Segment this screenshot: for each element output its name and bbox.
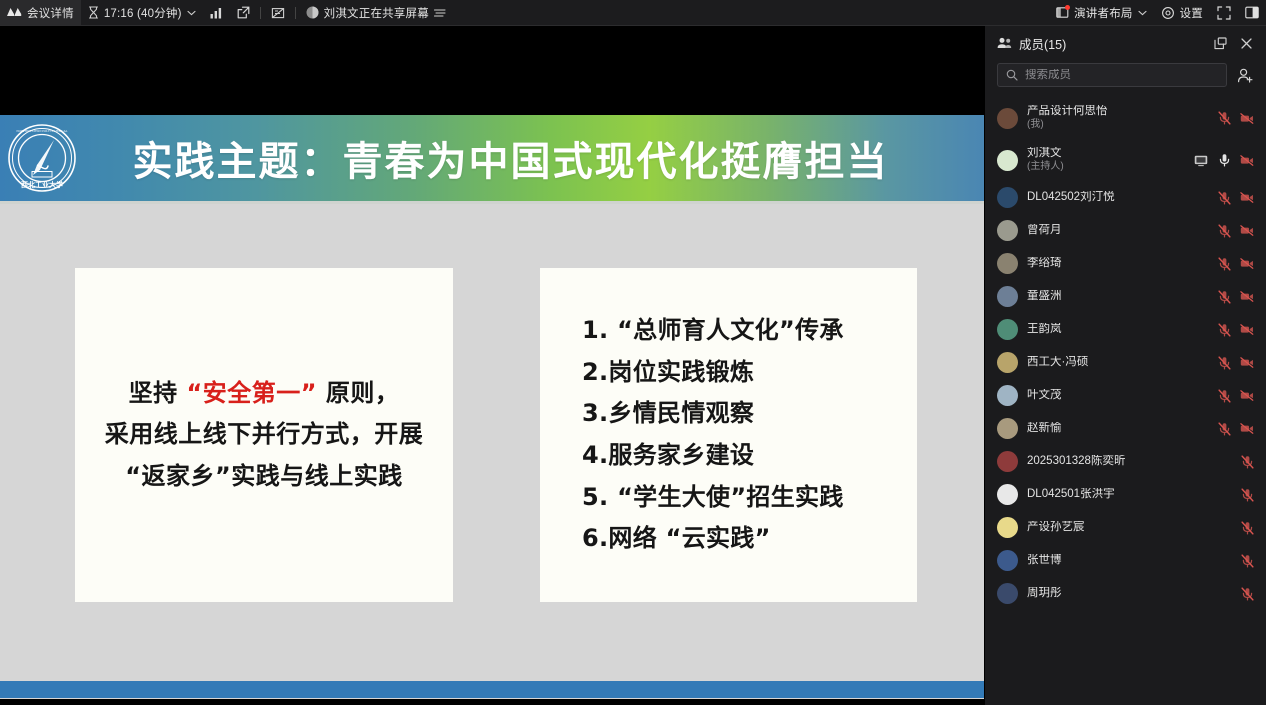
- settings-label: 设置: [1180, 5, 1203, 21]
- video-muted-icon[interactable]: [1240, 290, 1254, 304]
- toolbar-divider-2: [295, 7, 296, 19]
- speaker-layout-label: 演讲者布局: [1074, 5, 1133, 21]
- university-seal-icon: NORTHWESTERN POLYTECHNICAL 西北工业大学: [7, 123, 77, 193]
- participants-panel-header: 成员(15): [985, 29, 1266, 57]
- fullscreen-icon: [1217, 6, 1231, 20]
- meeting-details-label: 会议详情: [27, 5, 74, 21]
- avatar: [997, 583, 1018, 604]
- participant-row[interactable]: 西工大·冯硕: [985, 346, 1266, 379]
- svg-text:NORTHWESTERN POLYTECHNICAL: NORTHWESTERN POLYTECHNICAL: [16, 129, 67, 133]
- participant-name-wrap: 张世博: [1027, 554, 1231, 567]
- mic-muted-icon[interactable]: [1217, 224, 1231, 238]
- participant-actions: [1240, 521, 1254, 535]
- participant-name: 2025301328陈奕昕: [1027, 455, 1231, 468]
- participant-name: 产品设计何思怡: [1027, 105, 1208, 118]
- layout-icon: [1056, 6, 1069, 19]
- mic-muted-icon[interactable]: [1217, 111, 1231, 125]
- avatar: [997, 187, 1018, 208]
- participant-row[interactable]: 2025301328陈奕昕: [985, 445, 1266, 478]
- search-icon: [1006, 69, 1018, 81]
- participant-actions: [1217, 422, 1254, 436]
- meeting-timer[interactable]: 17:16 (40分钟): [81, 0, 203, 25]
- mic-muted-icon[interactable]: [1240, 488, 1254, 502]
- more-lines-icon: [434, 8, 446, 18]
- participant-name-wrap: 刘淇文(主持人): [1027, 147, 1185, 172]
- mic-muted-icon[interactable]: [1217, 422, 1231, 436]
- participant-actions: [1217, 290, 1254, 304]
- mic-muted-icon[interactable]: [1217, 323, 1231, 337]
- participant-row[interactable]: 叶文茂: [985, 379, 1266, 412]
- chevron-down-icon: [187, 10, 196, 16]
- participant-name-wrap: 产品设计何思怡(我): [1027, 105, 1208, 130]
- meeting-timer-label: 17:16 (40分钟): [104, 5, 182, 21]
- participants-panel: 成员(15): [984, 26, 1266, 705]
- network-stats-button[interactable]: [203, 0, 230, 25]
- left-card-line-2: 采用线上线下并行方式，开展: [105, 414, 424, 455]
- avatar: [997, 352, 1018, 373]
- left-line1-seg3: 原则，: [317, 379, 399, 407]
- right-card-item: 2.岗位实践锻炼: [582, 352, 754, 394]
- participant-actions: [1240, 587, 1254, 601]
- video-muted-icon[interactable]: [1240, 323, 1254, 337]
- sidebar-panel-icon: [1245, 6, 1259, 19]
- settings-button[interactable]: 设置: [1154, 0, 1210, 25]
- avatar: [997, 150, 1018, 171]
- participant-row[interactable]: 王韵岚: [985, 313, 1266, 346]
- participants-list[interactable]: 产品设计何思怡(我)刘淇文(主持人)DL042502刘汀悦曾荷月李绤琦童盛洲王韵…: [985, 95, 1266, 705]
- mic-muted-icon[interactable]: [1240, 521, 1254, 535]
- participant-name: 周玥彤: [1027, 587, 1231, 600]
- participant-name: 赵新愉: [1027, 422, 1208, 435]
- participant-actions: [1217, 111, 1254, 125]
- left-line1-highlight: “安全第一”: [186, 379, 317, 407]
- participant-row[interactable]: 曾荷月: [985, 214, 1266, 247]
- layout-badge: [1065, 5, 1070, 10]
- participant-name: DL042501张洪宇: [1027, 488, 1231, 501]
- participant-name: 产设孙艺宸: [1027, 521, 1231, 534]
- chevron-down-icon: [1138, 10, 1147, 16]
- avatar: [997, 286, 1018, 307]
- participants-search-row: [985, 57, 1266, 95]
- slide-card-right: 1. “总师育人文化”传承 2.岗位实践锻炼 3.乡情民情观察 4.服务家乡建设…: [540, 268, 917, 602]
- participant-actions: [1217, 191, 1254, 205]
- svg-text:西北工业大学: 西北工业大学: [21, 180, 63, 189]
- participant-actions: [1217, 224, 1254, 238]
- search-input[interactable]: [1025, 69, 1218, 81]
- slide-card-left: 坚持 “安全第一” 原则， 采用线上线下并行方式，开展 “返家乡”实践与线上实践: [75, 268, 453, 602]
- mic-muted-icon[interactable]: [1217, 191, 1231, 205]
- signal-bars-icon: [210, 7, 223, 19]
- participant-name-wrap: 产设孙艺宸: [1027, 521, 1231, 534]
- participant-name-wrap: 叶文茂: [1027, 389, 1208, 402]
- participant-name: 张世博: [1027, 554, 1231, 567]
- participant-name-wrap: 赵新愉: [1027, 422, 1208, 435]
- meeting-window: 会议详情 17:16 (40分钟): [0, 0, 1266, 705]
- left-card-line-3: “返家乡”实践与线上实践: [125, 456, 403, 497]
- right-card-item: 3.乡情民情观察: [582, 393, 754, 435]
- mic-muted-icon[interactable]: [1240, 587, 1254, 601]
- share-link-button[interactable]: [230, 0, 257, 25]
- avatar: [997, 253, 1018, 274]
- participant-actions: [1240, 554, 1254, 568]
- video-muted-icon[interactable]: [1240, 257, 1254, 271]
- left-card-line-1: 坚持 “安全第一” 原则，: [129, 373, 400, 414]
- video-muted-icon[interactable]: [1240, 111, 1254, 125]
- participant-name-wrap: 西工大·冯硕: [1027, 356, 1208, 369]
- participant-row[interactable]: 产品设计何思怡(我): [985, 97, 1266, 139]
- mic-muted-icon[interactable]: [1217, 257, 1231, 271]
- participant-name-wrap: 王韵岚: [1027, 323, 1208, 336]
- avatar: [997, 108, 1018, 129]
- mic-muted-icon[interactable]: [1217, 356, 1231, 370]
- close-icon[interactable]: [1237, 35, 1256, 52]
- external-link-icon: [237, 6, 250, 19]
- participant-actions: [1217, 389, 1254, 403]
- participant-row[interactable]: 童盛洲: [985, 280, 1266, 313]
- participant-row[interactable]: 李绤琦: [985, 247, 1266, 280]
- avatar: [997, 517, 1018, 538]
- screen-sharing-status[interactable]: 刘淇文正在共享屏幕: [299, 0, 453, 25]
- screen-share-icon[interactable]: [1194, 153, 1208, 167]
- mic-muted-icon[interactable]: [1217, 389, 1231, 403]
- participant-name: 叶文茂: [1027, 389, 1208, 402]
- participant-actions: [1240, 488, 1254, 502]
- right-card-item: 6.网络 “云实践”: [582, 518, 771, 560]
- right-card-item: 5. “学生大使”招生实践: [582, 477, 844, 519]
- mic-muted-icon[interactable]: [1240, 455, 1254, 469]
- right-card-item: 1. “总师育人文化”传承: [582, 310, 844, 352]
- participant-name-wrap: 周玥彤: [1027, 587, 1231, 600]
- add-user-icon[interactable]: [1235, 65, 1256, 86]
- participant-row[interactable]: DL042502刘汀悦: [985, 181, 1266, 214]
- search-box[interactable]: [997, 63, 1227, 87]
- participant-name: 王韵岚: [1027, 323, 1208, 336]
- avatar: [997, 484, 1018, 505]
- avatar: [997, 385, 1018, 406]
- shared-screen-stage: NORTHWESTERN POLYTECHNICAL 西北工业大学 实践主题：青…: [0, 26, 984, 705]
- gear-icon: [1161, 6, 1175, 20]
- participant-role-tag: (我): [1027, 119, 1208, 130]
- participant-name-wrap: 曾荷月: [1027, 224, 1208, 237]
- screenshot-icon: [271, 6, 285, 20]
- slide-card-right-content: 1. “总师育人文化”传承 2.岗位实践锻炼 3.乡情民情观察 4.服务家乡建设…: [540, 268, 917, 602]
- meeting-details-button[interactable]: 会议详情: [0, 0, 81, 25]
- mic-on-icon[interactable]: [1217, 153, 1231, 167]
- fullscreen-button[interactable]: [1210, 0, 1238, 25]
- screenshot-button[interactable]: [264, 0, 292, 25]
- participant-name: 曾荷月: [1027, 224, 1208, 237]
- participant-actions: [1217, 257, 1254, 271]
- video-muted-icon[interactable]: [1240, 224, 1254, 238]
- hourglass-icon: [88, 6, 99, 19]
- participant-name: 童盛洲: [1027, 290, 1208, 303]
- right-card-item: 4.服务家乡建设: [582, 435, 754, 477]
- participant-row[interactable]: 张世博: [985, 544, 1266, 577]
- avatar: [997, 220, 1018, 241]
- participants-icon: [997, 37, 1012, 49]
- pop-out-icon[interactable]: [1211, 35, 1230, 52]
- mic-muted-icon[interactable]: [1240, 554, 1254, 568]
- avatar: [997, 550, 1018, 571]
- participant-name-wrap: 2025301328陈奕昕: [1027, 455, 1231, 468]
- screen-sharing-label: 刘淇文正在共享屏幕: [324, 5, 429, 21]
- speaker-layout-button[interactable]: 演讲者布局: [1049, 0, 1154, 25]
- presentation-slide: NORTHWESTERN POLYTECHNICAL 西北工业大学 实践主题：青…: [0, 115, 984, 699]
- participant-row[interactable]: DL042501张洪宇: [985, 478, 1266, 511]
- mic-muted-icon[interactable]: [1217, 290, 1231, 304]
- slide-header-band: NORTHWESTERN POLYTECHNICAL 西北工业大学 实践主题：青…: [0, 115, 984, 201]
- participant-name-wrap: DL042501张洪宇: [1027, 488, 1231, 501]
- participant-actions: [1240, 455, 1254, 469]
- avatar: [997, 319, 1018, 340]
- meeting-top-bar: 会议详情 17:16 (40分钟): [0, 0, 1266, 26]
- video-muted-icon[interactable]: [1240, 153, 1254, 167]
- participant-name: 刘淇文: [1027, 147, 1185, 160]
- participant-actions: [1194, 153, 1254, 167]
- meeting-logo-icon: [7, 7, 22, 18]
- left-line1-seg1: 坚持: [129, 379, 187, 407]
- participant-row[interactable]: 赵新愉: [985, 412, 1266, 445]
- avatar: [997, 451, 1018, 472]
- participant-actions: [1217, 356, 1254, 370]
- participants-panel-title: 成员(15): [1019, 34, 1066, 53]
- video-muted-icon[interactable]: [1240, 356, 1254, 370]
- video-muted-icon[interactable]: [1240, 422, 1254, 436]
- participant-name: 西工大·冯硕: [1027, 356, 1208, 369]
- participant-name-wrap: 李绤琦: [1027, 257, 1208, 270]
- participant-name-wrap: DL042502刘汀悦: [1027, 191, 1208, 204]
- slide-bottom-bar: [0, 681, 984, 698]
- participant-role-tag: (主持人): [1027, 161, 1185, 172]
- participant-actions: [1217, 323, 1254, 337]
- participant-row[interactable]: 产设孙艺宸: [985, 511, 1266, 544]
- video-muted-icon[interactable]: [1240, 191, 1254, 205]
- avatar: [997, 418, 1018, 439]
- slide-card-left-content: 坚持 “安全第一” 原则， 采用线上线下并行方式，开展 “返家乡”实践与线上实践: [75, 268, 453, 602]
- slide-title: 实践主题：青春为中国式现代化挺膺担当: [77, 129, 984, 187]
- participant-row[interactable]: 刘淇文(主持人): [985, 139, 1266, 181]
- toolbar-divider: [260, 7, 261, 19]
- participant-name: DL042502刘汀悦: [1027, 191, 1208, 204]
- participant-name: 李绤琦: [1027, 257, 1208, 270]
- presenter-avatar: [306, 6, 319, 19]
- sidebar-toggle-button[interactable]: [1238, 0, 1266, 25]
- video-muted-icon[interactable]: [1240, 389, 1254, 403]
- participant-name-wrap: 童盛洲: [1027, 290, 1208, 303]
- slide-header-underline: [0, 201, 984, 204]
- participant-row[interactable]: 周玥彤: [985, 577, 1266, 610]
